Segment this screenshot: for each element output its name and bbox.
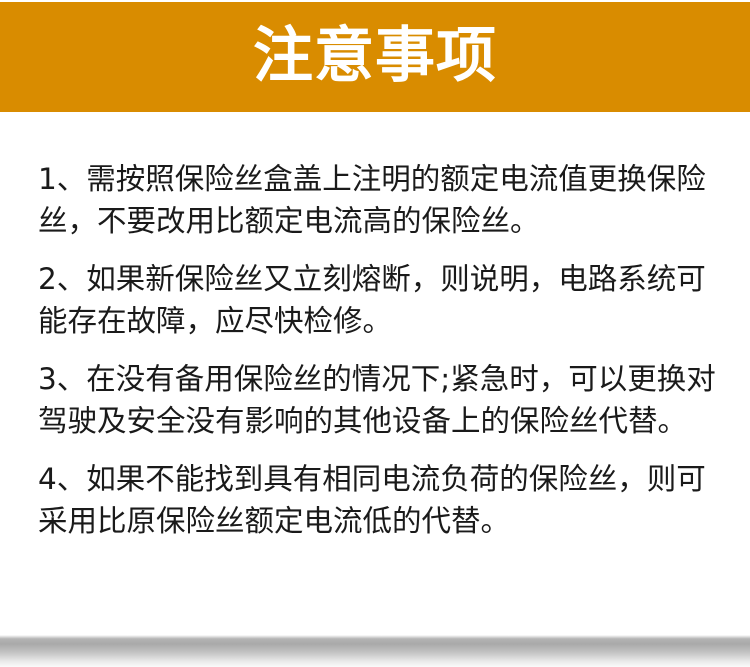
list-item: 2、如果新保险丝又立刻熔断，则说明，电路系统可能存在故障，应尽快检修。 — [38, 258, 722, 342]
notice-list: 1、需按照保险丝盒盖上注明的额定电流值更换保险丝，不要改用比额定电流高的保险丝。… — [38, 158, 722, 542]
page-title: 注意事项 — [253, 26, 497, 88]
notice-page: 注意事项 1、需按照保险丝盒盖上注明的额定电流值更换保险丝，不要改用比额定电流高… — [0, 0, 750, 667]
list-item: 1、需按照保险丝盒盖上注明的额定电流值更换保险丝，不要改用比额定电流高的保险丝。 — [38, 158, 722, 242]
header-banner: 注意事项 — [0, 2, 750, 112]
bottom-shadow-divider — [0, 635, 750, 667]
list-item: 4、如果不能找到具有相同电流负荷的保险丝，则可采用比原保险丝额定电流低的代替。 — [38, 458, 722, 542]
list-item: 3、在没有备用保险丝的情况下;紧急时，可以更换对驾驶及安全没有影响的其他设备上的… — [38, 358, 722, 442]
